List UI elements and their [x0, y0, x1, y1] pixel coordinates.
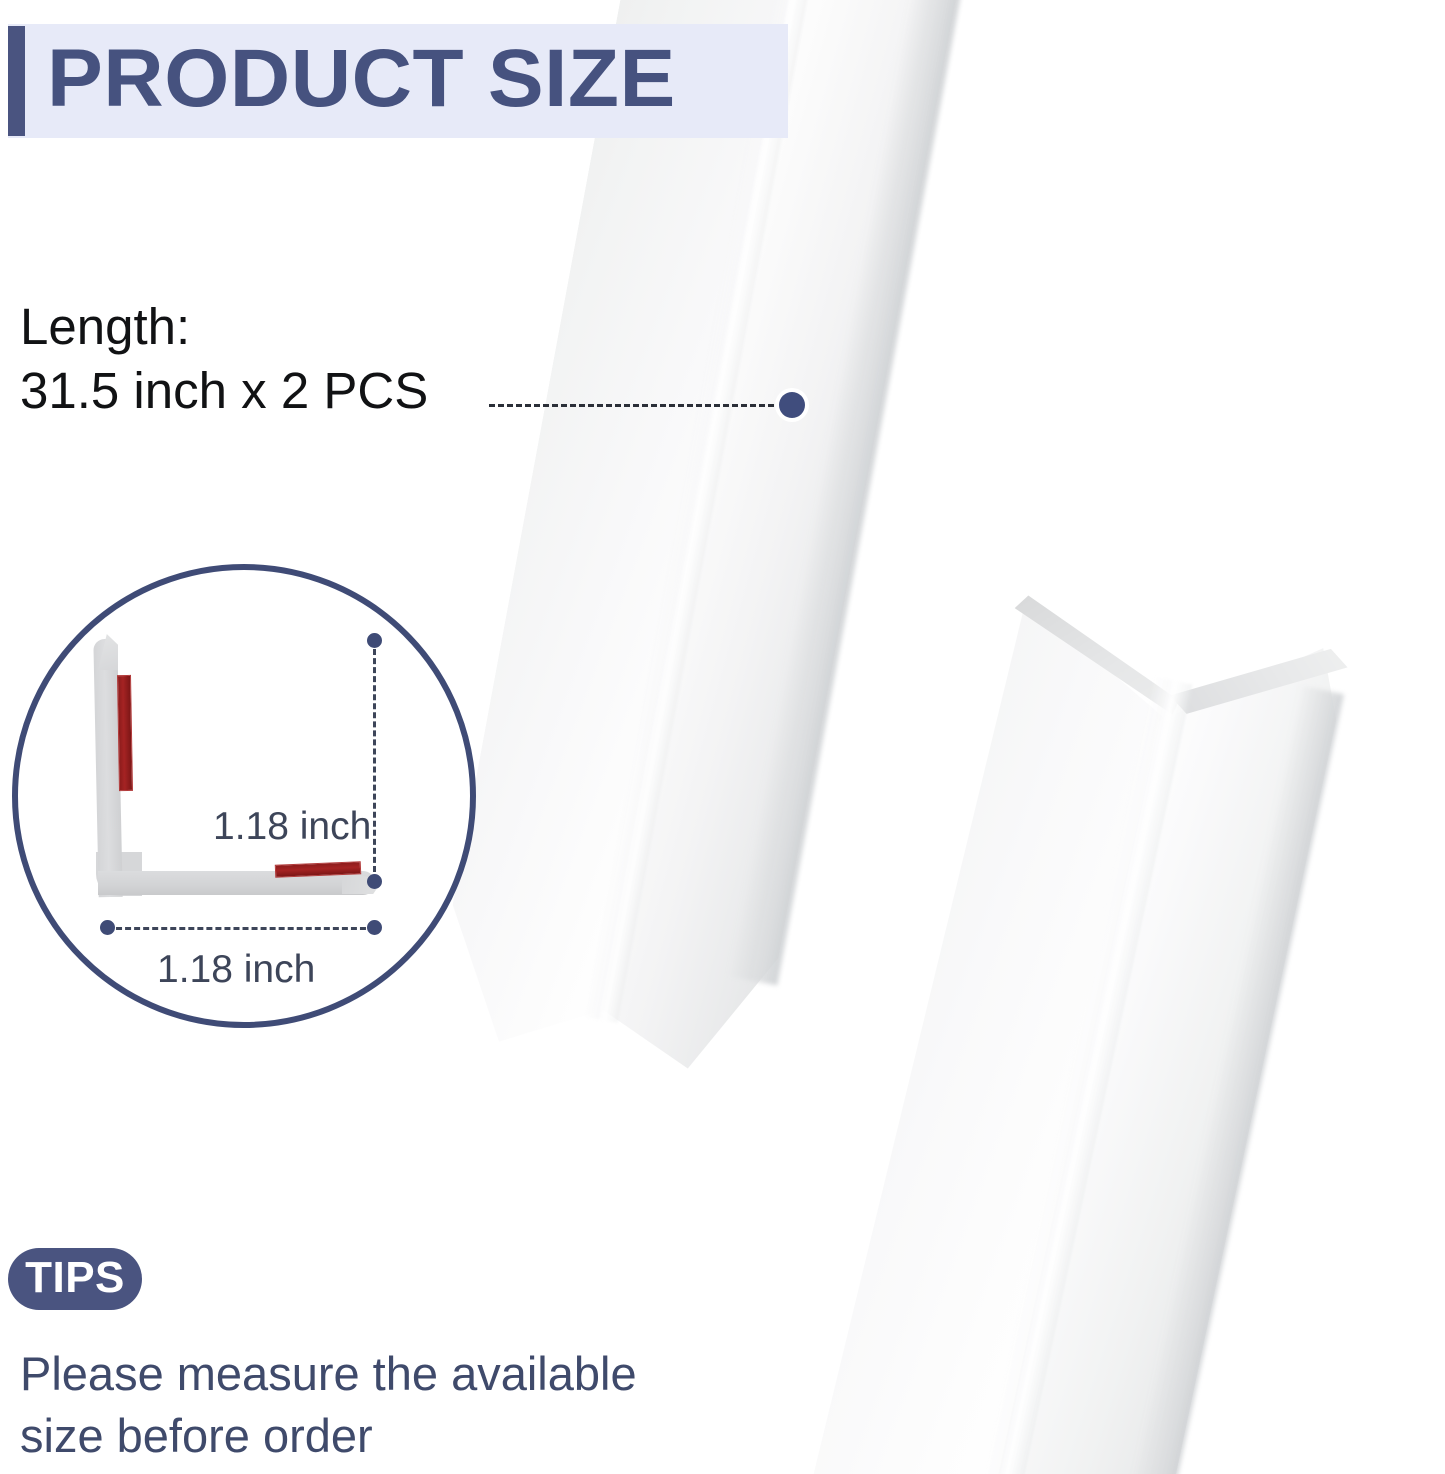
width-dimension-label: 1.18 inch	[157, 948, 315, 992]
width-dimension-dot-right	[367, 920, 382, 935]
height-dimension-line	[373, 640, 376, 881]
tips-badge-label: TIPS	[8, 1248, 142, 1310]
page-title: PRODUCT SIZE	[47, 26, 676, 132]
width-dimension-line	[107, 927, 375, 930]
length-label: Length:	[20, 296, 428, 358]
height-dimension-label: 1.18 inch	[213, 805, 371, 849]
height-dimension-dot-top	[367, 633, 382, 648]
height-dimension-dot-bottom	[367, 874, 382, 889]
length-leader-dot	[779, 392, 805, 418]
caulk-strip-lower-right	[769, 553, 1356, 1474]
length-leader-line	[489, 404, 783, 410]
tips-badge: TIPS	[8, 1248, 142, 1310]
width-dimension-dot-left	[100, 920, 115, 935]
header-accent-bar	[8, 26, 25, 136]
tips-text: Please measure the available size before…	[20, 1343, 780, 1467]
adhesive-strip-vertical-icon	[117, 675, 133, 791]
profile-detail-content: 1.18 inch 1.18 inch	[12, 564, 476, 1028]
length-value: 31.5 inch x 2 PCS	[20, 360, 428, 422]
caulk-strip-upper-left	[430, 0, 997, 1089]
infographic-canvas: PRODUCT SIZE Length: 31.5 inch x 2 PCS 1…	[0, 0, 1445, 1474]
tips-text-line-1: Please measure the available	[20, 1343, 780, 1405]
tips-text-line-2: size before order	[20, 1405, 780, 1467]
length-callout: Length: 31.5 inch x 2 PCS	[20, 296, 428, 422]
